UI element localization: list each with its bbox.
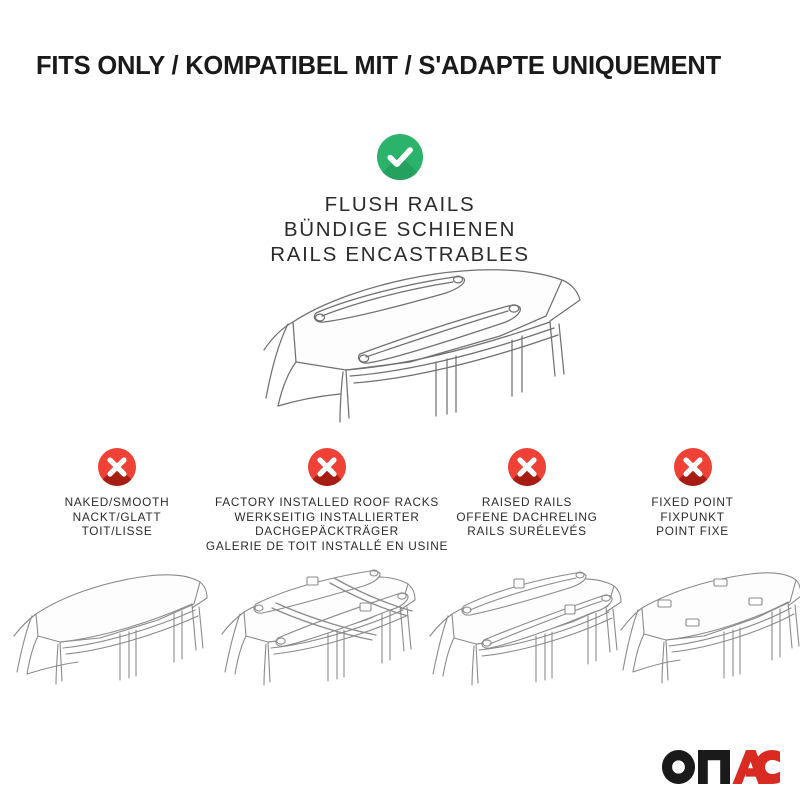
option-label-fr: TOIT/LISSE	[17, 524, 217, 539]
car-roof-factory-racks-illustration	[212, 556, 422, 686]
compatible-option-flush-rails: FLUSH RAILS BÜNDIGE SCHIENEN RAILS ENCAS…	[0, 134, 800, 267]
option-label-de: BÜNDIGE SCHIENEN	[0, 217, 800, 242]
excluded-badge-wrap-1	[17, 448, 217, 486]
check-circle-icon	[377, 134, 423, 180]
compatible-badge-wrap	[0, 134, 800, 180]
page-title: FITS ONLY / KOMPATIBEL MIT / S'ADAPTE UN…	[36, 52, 776, 80]
option-label-fr: RAILS ENCASTRABLES	[0, 242, 800, 267]
car-roof-naked-smooth-illustration	[8, 556, 208, 686]
option-label-de: NACKT/GLATT	[17, 510, 217, 525]
x-circle-icon	[674, 448, 712, 486]
compatible-option-labels: FLUSH RAILS BÜNDIGE SCHIENEN RAILS ENCAS…	[0, 192, 800, 267]
omac-logo	[662, 750, 780, 784]
excluded-badge-wrap-4	[600, 448, 785, 486]
option-label-de: FIXPUNKT	[600, 510, 785, 525]
excluded-option-fixed-point: FIXED POINT FIXPUNKT POINT FIXE	[600, 448, 785, 539]
option-label-en: FLUSH RAILS	[0, 192, 800, 217]
option-label-en: FIXED POINT	[600, 495, 785, 510]
option-label-en: NAKED/SMOOTH	[17, 495, 217, 510]
x-circle-icon	[98, 448, 136, 486]
x-circle-icon	[308, 448, 346, 486]
car-roof-flush-rails-illustration	[250, 266, 584, 431]
excluded-option-labels-1: NAKED/SMOOTH NACKT/GLATT TOIT/LISSE	[17, 495, 217, 539]
car-roof-fixed-point-illustration	[616, 556, 800, 686]
excluded-option-labels-4: FIXED POINT FIXPUNKT POINT FIXE	[600, 495, 785, 539]
option-label-fr: POINT FIXE	[600, 524, 785, 539]
car-roof-raised-rails-illustration	[422, 556, 622, 686]
option-label-fr: GALERIE DE TOIT INSTALLÉ EN USINE	[195, 539, 459, 554]
excluded-option-naked-smooth: NAKED/SMOOTH NACKT/GLATT TOIT/LISSE	[17, 448, 217, 539]
x-circle-icon	[508, 448, 546, 486]
